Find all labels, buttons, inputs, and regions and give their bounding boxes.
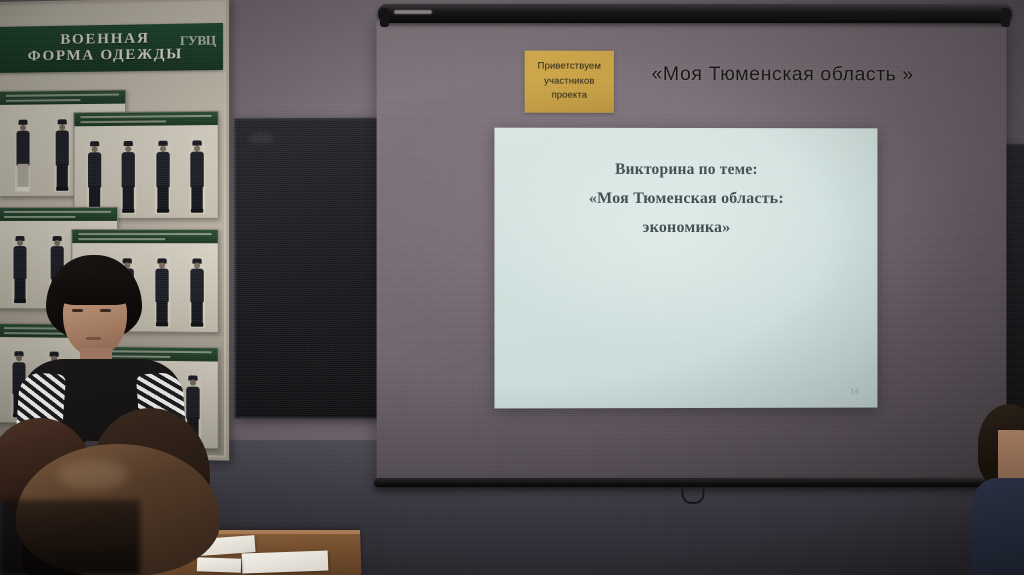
attendee-face (998, 430, 1024, 484)
uniform-figure-icon (155, 140, 170, 214)
presenter-fringe (52, 271, 138, 305)
slide-number: 14 (851, 387, 859, 396)
uniform-figure-icon (55, 118, 70, 192)
poster-title-text: ВОЕННАЯ ФОРМА ОДЕЖДЫ (28, 31, 183, 65)
poster-title-line2: ФОРМА ОДЕЖДЫ (28, 47, 183, 65)
presenter-mouth (86, 337, 101, 340)
slide-line-2: «Моя Тюменская область: (494, 184, 877, 213)
uniform-figure-icon (190, 139, 206, 213)
roller-end-cap-right (1001, 8, 1010, 27)
roller-highlight (394, 10, 432, 14)
panel-caption-bar (72, 230, 217, 243)
chalkboard-left (234, 118, 384, 420)
presenter-eye-right (100, 309, 111, 312)
panel-caption-bar (0, 90, 125, 105)
projected-slide: Викторина по теме: «Моя Тюменская област… (494, 128, 877, 409)
classroom-photo-scene: ВОЕННАЯ ФОРМА ОДЕЖДЫ ГУВЦ (0, 0, 1024, 575)
student-hair-highlight (58, 460, 128, 490)
roller-end-cap-left (380, 8, 389, 27)
slide-line-3: экономика» (494, 213, 877, 242)
poster-logo-text: ГУВЦ (180, 32, 216, 49)
welcome-sign-line1: Приветствуем (538, 59, 601, 74)
slide-line-1: Викторина по теме: (494, 156, 877, 185)
paper-sheet (242, 551, 329, 574)
panel-caption-bar (0, 208, 117, 221)
panel-figure-row (74, 127, 217, 216)
foreground-shadow (0, 500, 140, 575)
chalk-smudge (248, 132, 274, 144)
welcome-sign-line2: участников (544, 74, 594, 89)
projected-header-title: «Моя Тюменская область » (618, 63, 947, 87)
poster-panel (73, 111, 218, 219)
uniform-figure-icon (87, 140, 102, 214)
uniform-figure-icon (15, 119, 30, 192)
uniform-figure-icon (121, 140, 136, 214)
projection-screen-surface: Приветствуем участников проекта «Моя Тюм… (377, 20, 1007, 483)
welcome-sign: Приветствуем участников проекта (525, 50, 614, 112)
projection-screen-assembly: Приветствуем участников проекта «Моя Тюм… (370, 0, 1016, 505)
screen-pull-ring[interactable] (682, 485, 705, 504)
attendee-shoulder (972, 478, 1024, 575)
presenter-eye-left (72, 309, 83, 312)
attendee-right (972, 404, 1024, 575)
panel-caption-bar (74, 112, 217, 127)
screen-roller-bar[interactable] (378, 4, 1012, 23)
welcome-sign-line3: проекта (551, 89, 587, 104)
slide-text-block: Викторина по теме: «Моя Тюменская област… (494, 156, 877, 243)
